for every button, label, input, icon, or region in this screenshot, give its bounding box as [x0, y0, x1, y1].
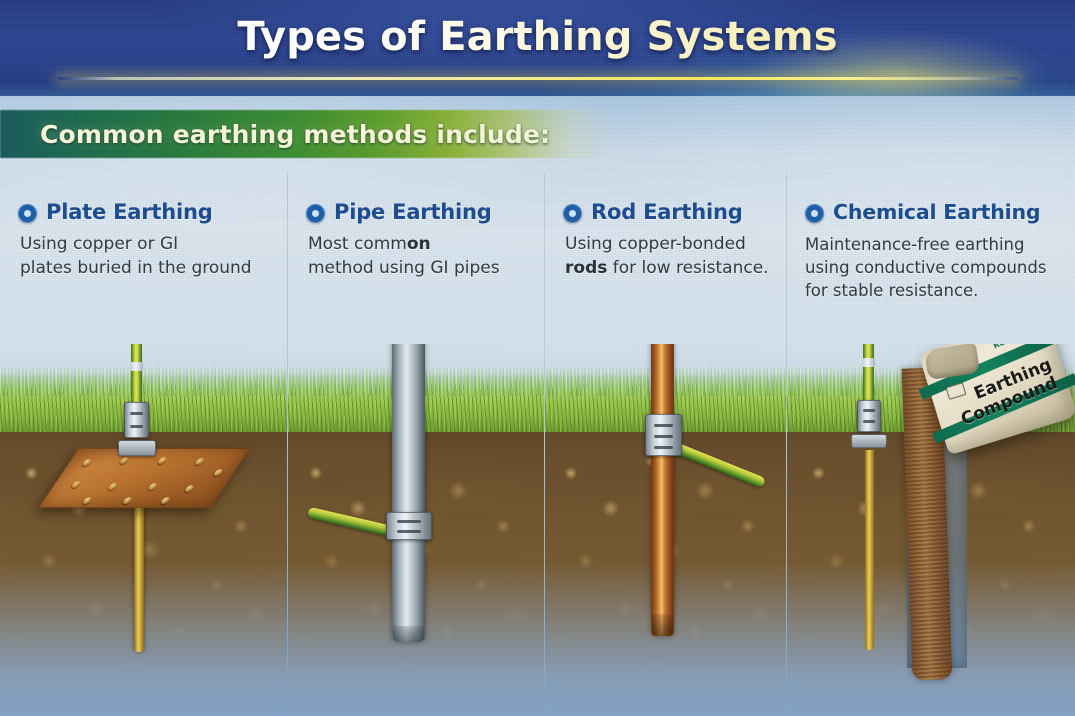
earthing-systems-infographic: Types of Earthing Systems Common earthin…: [0, 0, 1075, 716]
pipe-clamp: [386, 512, 432, 540]
pipe-desc-line1-bold: on: [407, 234, 431, 254]
plate-desc-line1: Using copper or GI: [20, 234, 178, 254]
rod-clamp: [645, 414, 682, 456]
cable-clamp: [857, 400, 881, 432]
column-heading-rod: Rod Earthing: [545, 174, 786, 224]
column-title-rod: Rod Earthing: [591, 200, 743, 224]
column-heading-chemical: Chemical Earthing: [787, 174, 1075, 224]
pipe-desc-line1-pre: Most comm: [308, 234, 407, 254]
column-title-plate: Plate Earthing: [46, 200, 213, 224]
column-title-pipe: Pipe Earthing: [334, 200, 492, 224]
chemical-earthing-illustration: Ratbacks Earthing Compound: [787, 344, 1075, 716]
gi-pipe: [392, 344, 425, 642]
ring-bullet-icon: [18, 204, 37, 223]
ring-bullet-icon: [805, 204, 824, 223]
section-banner-label: Common earthing methods include:: [40, 114, 550, 154]
poster-body: Common earthing methods include: Plate E…: [0, 96, 1075, 716]
column-description-chemical: Maintenance-free earthing using conducti…: [787, 224, 1075, 302]
page-title: Types of Earthing Systems: [0, 14, 1075, 60]
column-title-chemical: Chemical Earthing: [833, 200, 1040, 224]
header-band: Types of Earthing Systems: [0, 0, 1075, 96]
column-heading-plate: Plate Earthing: [0, 174, 287, 224]
rod-clamp: [851, 434, 887, 448]
ring-bullet-icon: [563, 204, 582, 223]
rod-earthing-illustration: [545, 344, 786, 716]
methods-columns: Plate Earthing Using copper or GI plates…: [0, 174, 1075, 716]
method-column-rod-earthing[interactable]: Rod Earthing Using copper-bonded rods fo…: [545, 174, 787, 716]
chemical-desc-line3: for stable resistance.: [805, 281, 978, 300]
chemical-desc-line1: Maintenance-free earthing: [805, 235, 1024, 254]
cable-clamp: [124, 402, 149, 438]
plate-desc-line2: plates buried in the ground: [20, 258, 252, 278]
earth-rod: [865, 450, 874, 650]
column-description-plate: Using copper or GI plates buried in the …: [0, 224, 287, 281]
method-column-chemical-earthing[interactable]: Chemical Earthing Maintenance-free earth…: [787, 174, 1075, 716]
pipe-desc-line2: method using GI pipes: [308, 258, 500, 278]
title-divider-line: [58, 77, 1018, 80]
chemical-desc-line2: using conductive compounds: [805, 258, 1046, 277]
plate-clamp: [118, 440, 156, 456]
rod-desc-line2-rest: for low resistance.: [607, 258, 768, 278]
method-column-plate-earthing[interactable]: Plate Earthing Using copper or GI plates…: [0, 174, 288, 716]
method-column-pipe-earthing[interactable]: Pipe Earthing Most common method using G…: [288, 174, 545, 716]
rod-desc-line2-bold: rods: [565, 258, 607, 278]
ring-bullet-icon: [306, 204, 325, 223]
plate-earthing-illustration: [0, 344, 287, 716]
rod-desc-line1: Using copper-bonded: [565, 234, 746, 254]
column-description-pipe: Most common method using GI pipes: [288, 224, 544, 281]
copper-bonded-rod: [651, 344, 674, 636]
column-description-rod: Using copper-bonded rods for low resista…: [545, 224, 786, 281]
pipe-earthing-illustration: [288, 344, 544, 716]
column-heading-pipe: Pipe Earthing: [288, 174, 544, 224]
